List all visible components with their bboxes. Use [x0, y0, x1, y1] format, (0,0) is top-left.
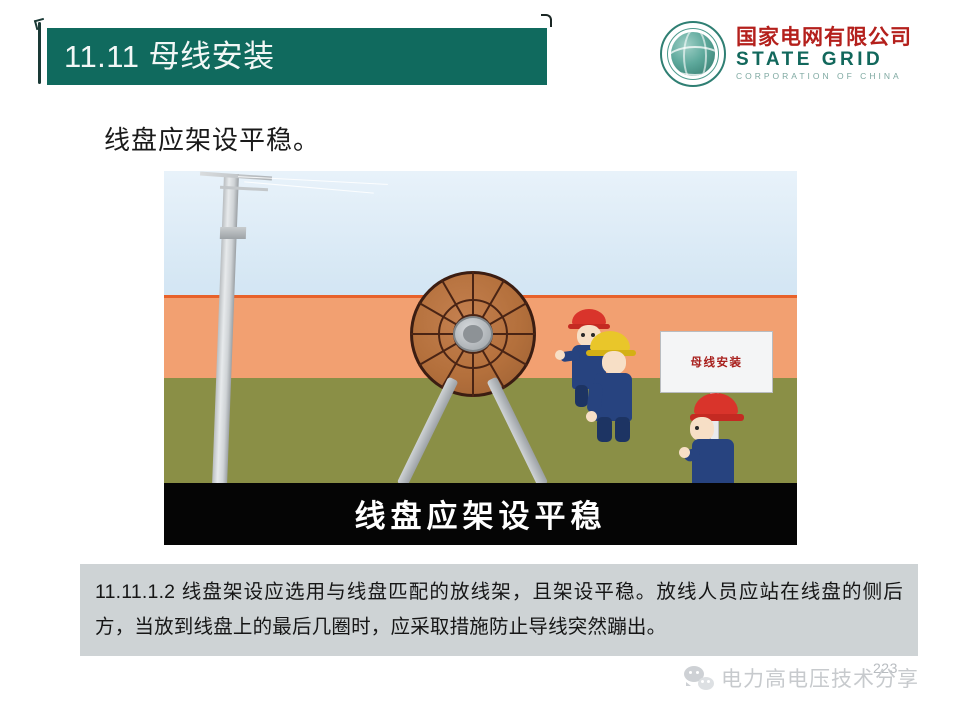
- logo-chinese-name: 国家电网有限公司: [736, 27, 912, 49]
- wechat-icon: [684, 666, 714, 690]
- title-decoration-left-bar: [38, 22, 41, 84]
- state-grid-logo: 国家电网有限公司 STATE GRID CORPORATION OF CHINA: [660, 18, 950, 90]
- sign-text: 母线安装: [691, 354, 743, 370]
- worker-yellow-helmet: [584, 331, 644, 443]
- slide-title-bar: 11.11 母线安装: [47, 28, 547, 85]
- illustration-caption-text: 线盘应架设平稳: [355, 491, 607, 536]
- reel-hub: [410, 271, 536, 397]
- utility-pole: [198, 171, 268, 483]
- sign-board: 母线安装: [660, 331, 773, 393]
- caption-text: 11.11.1.2 线盘架设应选用与线盘匹配的放线架，且架设平稳。放线人员应站在…: [95, 575, 903, 644]
- page-number: 223: [873, 660, 898, 676]
- illustration-image: 母线安装 线盘应架设平稳: [164, 171, 797, 545]
- logo-text-block: 国家电网有限公司 STATE GRID CORPORATION OF CHINA: [736, 27, 912, 81]
- illustration-caption-bar: 线盘应架设平稳: [164, 483, 797, 545]
- logo-english-name: STATE GRID: [736, 50, 912, 70]
- page-title: 11.11 母线安装: [64, 41, 275, 72]
- title-decoration-right-cap: [541, 14, 552, 27]
- state-grid-globe-emblem: [660, 21, 726, 87]
- worker-red-helmet-sign: [684, 393, 746, 489]
- slide-subtitle: 线盘应架设平稳。: [104, 120, 320, 157]
- logo-english-subtitle: CORPORATION OF CHINA: [736, 72, 912, 81]
- caption-box: 11.11.1.2 线盘架设应选用与线盘匹配的放线架，且架设平稳。放线人员应站在…: [80, 564, 918, 656]
